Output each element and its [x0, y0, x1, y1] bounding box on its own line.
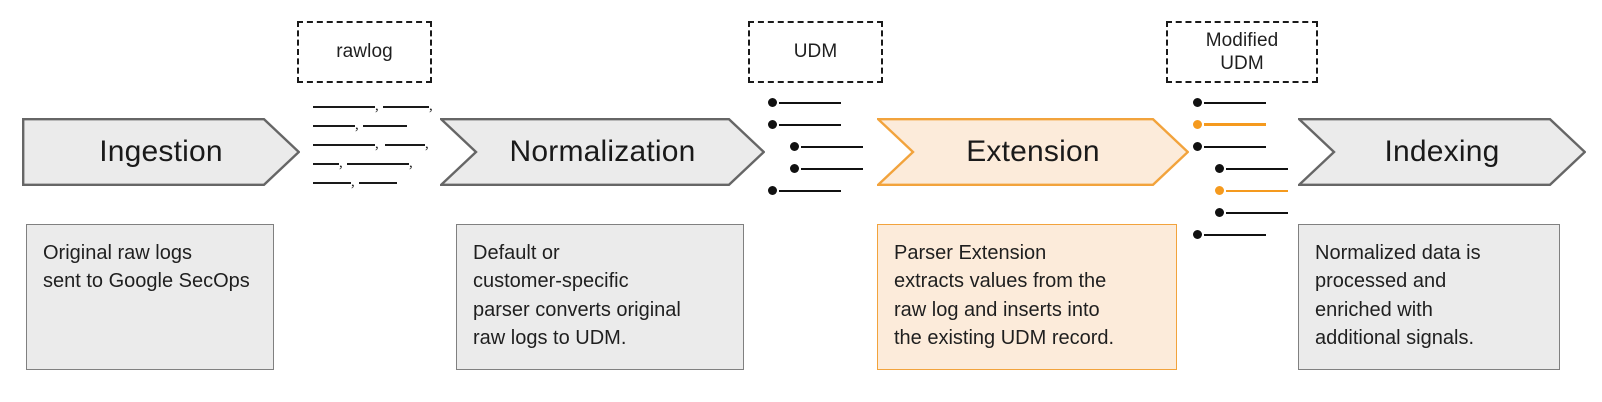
pipeline-diagram: rawlog UDM Modified UDM , , , , , , [0, 0, 1602, 402]
description-line: processed and [1315, 267, 1543, 295]
udm-bullet-line [779, 102, 841, 104]
rawlog-segment [363, 125, 407, 127]
description-line: Normalized data is [1315, 239, 1543, 267]
udm-bullet-line [779, 190, 841, 192]
chip-udm: UDM [748, 21, 883, 83]
chip-modified-udm: Modified UDM [1166, 21, 1318, 83]
rawlog-segment [385, 144, 425, 146]
description-line: Parser Extension [894, 239, 1160, 267]
udm-bullet-dot-highlighted [1193, 120, 1202, 129]
udm-bullet-dot [768, 98, 777, 107]
description-normalization: Default or customer-specific parser conv… [456, 224, 744, 370]
chevron-shape-ingestion [22, 118, 300, 186]
description-line: raw logs to UDM. [473, 324, 727, 352]
description-line: Original raw logs [43, 239, 257, 267]
rawlog-comma: , [339, 156, 343, 170]
rawlog-segment [313, 106, 375, 108]
description-line: raw log and inserts into [894, 296, 1160, 324]
chip-rawlog-label: rawlog [336, 40, 393, 63]
rawlog-lines-artifact: , , , , , , , , [313, 100, 433, 192]
rawlog-segment [383, 106, 429, 108]
udm-bullet-dot [790, 142, 799, 151]
modified-udm-bullet-row [1193, 230, 1266, 239]
udm-bullet-row [768, 98, 841, 107]
udm-bullet-line [1226, 168, 1288, 170]
rawlog-comma: , [425, 137, 429, 151]
stage-normalization[interactable]: Normalization [440, 118, 765, 186]
udm-bullet-line [1204, 234, 1266, 236]
description-line: additional signals. [1315, 324, 1543, 352]
rawlog-comma: , [375, 99, 379, 113]
rawlog-segment [359, 182, 397, 184]
chip-modified-udm-label-line1: Modified [1206, 29, 1279, 52]
modified-udm-bullet-row [1215, 164, 1288, 173]
modified-udm-bullet-row-highlighted [1193, 120, 1266, 129]
udm-bullet-dot-highlighted [1215, 186, 1224, 195]
udm-bullet-dot [1193, 142, 1202, 151]
udm-bullet-row [790, 164, 863, 173]
udm-bullet-dot [1193, 230, 1202, 239]
udm-bullet-row [768, 186, 841, 195]
udm-bullet-line [779, 124, 841, 126]
udm-bullet-line [1226, 212, 1288, 214]
rawlog-segment [347, 163, 409, 165]
rawlog-comma: , [409, 156, 413, 170]
modified-udm-bullet-row [1215, 208, 1288, 217]
udm-bullet-row [768, 120, 841, 129]
stage-ingestion[interactable]: Ingestion [22, 118, 300, 186]
udm-bullet-dot [790, 164, 799, 173]
chevron-shape-extension [877, 118, 1189, 186]
chevron-shape-indexing [1298, 118, 1586, 186]
modified-udm-bullet-row-highlighted [1215, 186, 1288, 195]
stage-indexing[interactable]: Indexing [1298, 118, 1586, 186]
chip-modified-udm-label-line2: UDM [1220, 52, 1264, 75]
description-line: extracts values from the [894, 267, 1160, 295]
description-line: sent to Google SecOps [43, 267, 257, 295]
chip-rawlog: rawlog [297, 21, 432, 83]
modified-udm-bullet-row [1193, 98, 1266, 107]
udm-bullet-line-highlighted [1204, 123, 1266, 126]
rawlog-segment [313, 182, 351, 184]
chip-udm-label: UDM [794, 40, 838, 63]
rawlog-segment [313, 144, 375, 146]
rawlog-segment [313, 163, 339, 165]
udm-bullet-dot [1215, 164, 1224, 173]
udm-bullet-dot [768, 120, 777, 129]
rawlog-comma: , [375, 137, 379, 151]
chevron-shape-normalization [440, 118, 765, 186]
udm-bullet-line [801, 168, 863, 170]
description-extension: Parser Extension extracts values from th… [877, 224, 1177, 370]
description-line: customer-specific [473, 267, 727, 295]
description-ingestion: Original raw logs sent to Google SecOps [26, 224, 274, 370]
udm-bullet-line [1204, 102, 1266, 104]
modified-udm-bullet-row [1193, 142, 1266, 151]
description-line: Default or [473, 239, 727, 267]
modified-udm-bullets-artifact [1193, 98, 1289, 243]
udm-bullet-dot [768, 186, 777, 195]
rawlog-comma: , [429, 99, 433, 113]
udm-bullet-row [790, 142, 863, 151]
stage-extension[interactable]: Extension [877, 118, 1189, 186]
rawlog-comma: , [351, 175, 355, 189]
udm-bullet-line [801, 146, 863, 148]
description-line: parser converts original [473, 296, 727, 324]
udm-bullet-line-highlighted [1226, 190, 1288, 192]
udm-bullets-artifact [768, 98, 864, 190]
description-line: the existing UDM record. [894, 324, 1160, 352]
udm-bullet-dot [1215, 208, 1224, 217]
rawlog-comma: , [355, 118, 359, 132]
rawlog-segment [313, 125, 355, 127]
description-line: enriched with [1315, 296, 1543, 324]
udm-bullet-line [1204, 146, 1266, 148]
description-indexing: Normalized data is processed and enriche… [1298, 224, 1560, 370]
udm-bullet-dot [1193, 98, 1202, 107]
